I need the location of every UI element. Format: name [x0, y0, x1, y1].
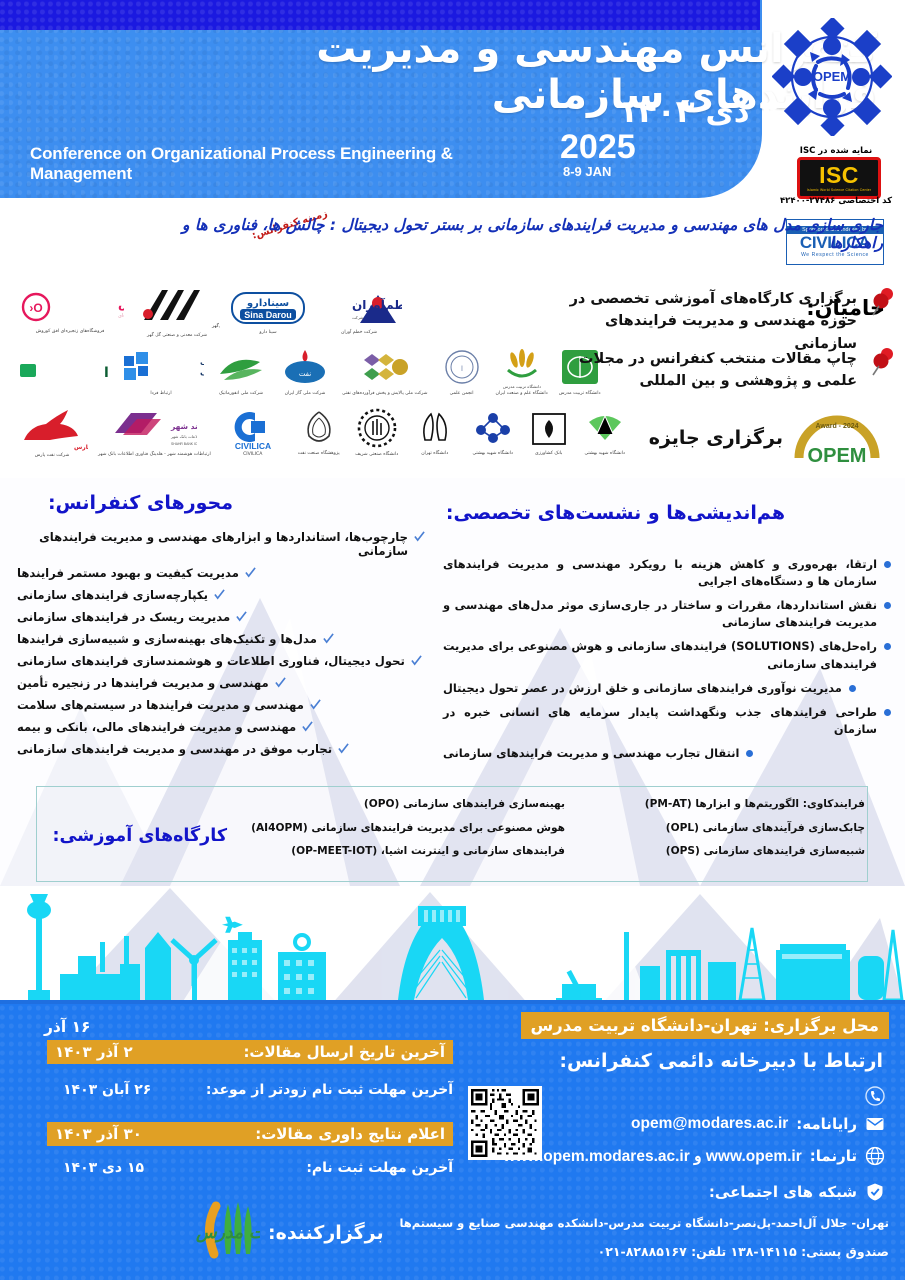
session-label: انتقال تجارب مهندسی و مدیریت فرایندهای س… [443, 745, 739, 762]
logo-anjoman: ا انجمن علمی [438, 346, 486, 398]
deadline-row-early-registration: آخرین مهلت ثبت نام زودتر از موعد: ۲۶ آبا… [63, 1082, 453, 1098]
feature-item-publications: چاپ مقالات منتخب کنفرانس در مجلات علمی و… [557, 348, 857, 393]
isc-code: کد اختصاصی ۲۷۴۸۶-۴۲۴۰۰ [776, 196, 896, 206]
sessions-list: ارتقا، بهره‌وری و کاهش هزینه با رویکرد م… [443, 556, 891, 769]
award-logo-text: OPEM [808, 445, 867, 464]
list-item: مدل‌ها و تکنیک‌های بهینه‌سازی و شبیه‌ساز… [17, 632, 425, 646]
deadline-date: ۲ آذر ۱۴۰۳ [55, 1043, 133, 1061]
email-label: رایانامه: [796, 1115, 857, 1133]
bullet-icon [884, 602, 891, 609]
axis-label: یکپارچه‌سازی فرایندهای سازمانی [17, 588, 208, 602]
svg-text:سینادارو: سینادارو [246, 298, 289, 309]
logo-caption: ارتباطات هوشمند شهر - هلدینگ فناوری اطلا… [98, 452, 211, 457]
contact-phone-row [865, 1086, 885, 1106]
contact-web-row[interactable]: تارنما: www.opem.modares.ac.ir و www.ope… [503, 1146, 885, 1166]
svg-text:ا: ا [461, 365, 463, 373]
organizer-logo-text: دانشگاه تربیت مدرس [195, 1222, 260, 1243]
workshop-item: شبیه‌سازی فرایندهای سازمانی (OPS) [575, 845, 865, 858]
logo-green-leaf: شرکت ملی انفورماتیک [214, 346, 268, 398]
deadline-label: آخرین مهلت ثبت نام: [306, 1160, 453, 1176]
globe-icon [865, 1146, 885, 1166]
logo-bank-keshavarzi: بانک کشاورزی [527, 406, 571, 458]
supporters-row-2: دانشگاه تربیت مدرس دانشگاه تربیت مدرس دا… [10, 342, 550, 402]
logo-shahid-beheshti: دانشگاه شهید بهشتی [581, 406, 629, 458]
svg-text:شرکت نفت پارس: شرکت نفت پارس [74, 444, 88, 451]
logo-caption: دانشگاه تهران [421, 451, 448, 456]
session-label: مدیریت نوآوری فرایندهای سازمانی و خلق ار… [443, 680, 842, 697]
civilica-bottom-text: We Respect the Science [801, 252, 869, 258]
workshops-heading: کارگاه‌های آموزشی: [52, 826, 227, 846]
list-item: تحول دیجیتال، فناوری اطلاعات و هوشمندساز… [17, 654, 425, 668]
list-item: ارتقا، بهره‌وری و کاهش هزینه با رویکرد م… [443, 556, 891, 590]
svg-text:شرکت معدنی و صنعتی گل‌گهر: شرکت معدنی و صنعتی گل‌گهر [211, 322, 220, 329]
logo-caption: شرکت خطم آوران [341, 330, 377, 335]
award-label: برگزاری جایزه [649, 427, 783, 449]
isc-badge-subtext: Islamic World Science Citation Center [807, 188, 871, 192]
deadline-label: آخرین مهلت ثبت نام زودتر از موعد: [206, 1082, 453, 1098]
axis-label: مدیریت ریسک در فرایندهای سازمانی [17, 610, 230, 624]
check-icon [245, 567, 256, 578]
social-label: شبکه های اجتماعی: [709, 1183, 857, 1201]
workshops-column-a: بهینه‌سازی فرایندهای سازمانی (OPO) هوش م… [235, 798, 565, 869]
workshop-item: فرایندکاوی: الگوریتم‌ها و ابزارها (PM-AT… [575, 798, 865, 811]
check-icon [302, 721, 313, 732]
logo-sina-darou: سینادارو Sina Darou سینا دارو [230, 286, 306, 338]
logo-caption: دانشگاه شهید بهشتی [473, 451, 513, 456]
deadline-row-review-results: اعلام نتایج داوری مقالات: ۳۰ آذر ۱۴۰۳ [47, 1122, 453, 1146]
axis-label: مدل‌ها و تکنیک‌های بهینه‌سازی و شبیه‌ساز… [17, 632, 317, 646]
organizer-label: برگزارکننده: [268, 1222, 384, 1244]
header-title-en: Conference on Organizational Process Eng… [30, 144, 550, 184]
svg-text:ارتباط‌فردا: ارتباط‌فردا [104, 365, 108, 381]
bullet-icon [746, 750, 753, 757]
check-icon [411, 655, 422, 666]
header-year: 2025 [560, 128, 636, 167]
bullet-icon [884, 643, 891, 650]
svg-text:SHAHR BANK ICT HOLDING: SHAHR BANK ICT HOLDING [171, 442, 197, 446]
header-date-en: 8-9 JAN [563, 164, 611, 179]
check-icon [310, 699, 321, 710]
logo-caption: شرکت ملی گاز ایران [285, 391, 326, 396]
theme-text: جاری سازی مدل های مهندسی و مدیریت فرایند… [143, 216, 883, 252]
check-icon [275, 677, 286, 688]
list-item: چارچوب‌ها، استانداردها و ابزارهای مهندسی… [17, 530, 425, 559]
list-item: انتقال تجارب مهندسی و مدیریت فرایندهای س… [443, 745, 891, 762]
logo-research-institute: پژوهشگاه صنعت نفت [295, 406, 343, 458]
supporters-logo-grid: خطم‌آوران شرکت شرکت خطم آوران سینادارو S… [10, 282, 550, 472]
logo-caption: دانشگاه صنعتی شریف [355, 452, 398, 457]
axis-label: مهندسی و مدیریت فرایندها در زنجیره تأمین [17, 676, 269, 690]
axis-label: چارچوب‌ها، استانداردها و ابزارهای مهندسی… [17, 530, 408, 559]
logo-golgohar: شرکت معدنی و صنعتی گل‌گهر شرکت معدنی و ص… [134, 286, 220, 338]
svg-text:هلدینگ فناوری اطلاعات بانک شهر: هلدینگ فناوری اطلاعات بانک شهر [170, 434, 197, 439]
workshop-item: بهینه‌سازی فرایندهای سازمانی (OPO) [235, 798, 565, 811]
axis-label: تجارب موفق در مهندسی و مدیریت فرایندهای … [17, 742, 332, 756]
list-item: مدیریت نوآوری فرایندهای سازمانی و خلق ار… [443, 680, 891, 697]
list-item: طراحی فرایندهای جذب ونگهداشت پایدار سرما… [443, 704, 891, 738]
supporters-row-3: دانشگاه شهید بهشتی بانک کشاورزی دانشگاه [10, 402, 550, 462]
email-value[interactable]: opem@modares.ac.ir [631, 1115, 788, 1133]
award-arc-text: Award - 2024 [815, 423, 858, 430]
deadline-row-registration: آخرین مهلت ثبت نام: ۱۵ دی ۱۴۰۳ [63, 1160, 453, 1176]
footer-postal-phone: صندوق پستی: ۱۴۱۱۵-۱۳۸ تلفن: ۸۲۸۸۵۱۶۷-۰۲۱ [598, 1244, 889, 1259]
workshop-item: فرایندهای سازمانی و اینترنت اشیا، (OP-ME… [235, 845, 565, 858]
svg-text:نفت: نفت [299, 370, 311, 378]
tarbiat-modares-logo-icon: دانشگاه تربیت مدرس [60, 1198, 260, 1260]
list-item: مدیریت کیفیت و بهبود مستمر فرایندها [17, 566, 425, 580]
logo-ofogh-koorosh: O‹ افق کوروش فروشگاه‌های زنجیره‌ای فروشگ… [16, 286, 124, 338]
list-item: یکپارچه‌سازی فرایندهای سازمانی [17, 588, 425, 602]
logo-caption: ارتباط فردا [150, 391, 171, 396]
deadline-label: آخرین تاریخ ارسال مقالات: [243, 1043, 445, 1061]
list-item: تجارب موفق در مهندسی و مدیریت فرایندهای … [17, 742, 425, 756]
contact-heading: ارتباط با دبیرخانه دائمی کنفرانس: [559, 1050, 883, 1072]
axis-label: مدیریت کیفیت و بهبود مستمر فرایندها [17, 566, 239, 580]
logo-caption: دانشگاه علم و صنعت ایران [496, 391, 548, 396]
session-label: طراحی فرایندهای جذب ونگهداشت پایدار سرما… [443, 704, 877, 738]
award-block: Award - 2024 OPEM برگزاری جایزه [633, 412, 883, 464]
svg-text:ارتباطات هوشمند شهر: ارتباطات هوشمند شهر [170, 422, 197, 431]
check-icon [338, 743, 349, 754]
logo-caption: دانشگاه شهید بهشتی [585, 451, 625, 456]
isc-badge-text: ISC [819, 164, 859, 187]
qr-code[interactable] [468, 1086, 542, 1160]
phone-icon [865, 1086, 885, 1106]
web-label: تارنما: [810, 1147, 857, 1165]
deadline-date: ۲۶ آبان ۱۴۰۳ [63, 1082, 151, 1098]
logo-civilica: CIVILICA CIVILICA [221, 406, 285, 458]
logo-ertebat-farda: ارتباط‌فردا [16, 346, 108, 398]
axis-label: مهندسی و مدیریت فرایندها در سیستم‌های سل… [17, 698, 304, 712]
deadline-date: ۱۵ دی ۱۴۰۳ [63, 1160, 144, 1176]
check-icon [414, 531, 425, 542]
sessions-heading: هم‌اندیشی‌ها و نشست‌های تخصصی: [446, 502, 785, 524]
bullet-icon [884, 561, 891, 568]
check-icon [323, 633, 334, 644]
workshops-column-b: فرایندکاوی: الگوریتم‌ها و ابزارها (PM-AT… [575, 798, 865, 869]
contact-email-row[interactable]: رایانامه: opem@modares.ac.ir [631, 1114, 885, 1134]
axes-list: چارچوب‌ها، استانداردها و ابزارهای مهندسی… [17, 530, 425, 764]
svg-text:دانشگاه تربیت مدرس: دانشگاه تربیت مدرس [503, 384, 541, 389]
isc-badge: ISC Islamic World Science Citation Cente… [797, 157, 881, 199]
list-item: مهندسی و مدیریت فرایندها در سیستم‌های سل… [17, 698, 425, 712]
deadline-date: ۳۰ آذر ۱۴۰۳ [55, 1125, 142, 1143]
session-label: راه‌حل‌های (SOLUTIONS) فرایندهای سازمانی… [443, 638, 877, 672]
list-item: مدیریت ریسک در فرایندهای سازمانی [17, 610, 425, 624]
deadline-label: اعلام نتایج داوری مقالات: [255, 1125, 445, 1143]
logo-caption: بانک کشاورزی [535, 451, 562, 456]
list-item: راه‌حل‌های (SOLUTIONS) فرایندهای سازمانی… [443, 638, 891, 672]
logo-khat-avaran: خطم‌آوران شرکت شرکت خطم آوران [316, 286, 402, 338]
logo-caption: انجمن علمی [450, 391, 474, 396]
deadline-note-top: ۱۶ آذر [44, 1018, 91, 1036]
workshop-item: چابک‌سازی فرآیندهای سازمانی (OPL) [575, 822, 865, 835]
logo-informatics: شرکت ملی انفورماتیک ارتباط فردا [118, 346, 204, 398]
shield-check-icon [865, 1182, 885, 1202]
opem-award-logo-icon: Award - 2024 OPEM [791, 412, 883, 464]
logo-shahid-beheshti-2: دانشگاه شهید بهشتی [469, 406, 517, 458]
isc-note: نمایه شده در ISC [784, 146, 888, 156]
check-icon [236, 611, 247, 622]
logo-caption: CIVILICA [243, 452, 262, 457]
opem-logo-text: OPEM [813, 69, 851, 84]
svg-text:شرکت: شرکت [352, 315, 364, 320]
list-item: نقش استانداردها، مقررات و ساختار در جاری… [443, 597, 891, 631]
svg-text:CIVILICA: CIVILICA [235, 441, 271, 451]
bullet-icon [849, 685, 856, 692]
venue-badge: محل برگزاری: تهران-دانشگاه تربیت مدرس [521, 1012, 889, 1039]
session-label: ارتقا، بهره‌وری و کاهش هزینه با رویکرد م… [443, 556, 877, 590]
svg-text:شرکت ملی: شرکت ملی [200, 357, 204, 366]
svg-text:انفورماتیک: انفورماتیک [200, 368, 204, 377]
logo-caption: فروشگاه‌های زنجیره‌ای افق کوروش [36, 329, 105, 334]
deadline-row-submission: آخرین تاریخ ارسال مقالات: ۲ آذر ۱۴۰۳ [47, 1040, 453, 1064]
list-item: مهندسی و مدیریت فرایندهای مالی، بانکی و … [17, 720, 425, 734]
svg-text:O‹: O‹ [29, 301, 42, 315]
svg-text:افق کوروش: افق کوروش [118, 297, 124, 312]
logo-university-wheat: دانشگاه تربیت مدرس دانشگاه علم و صنعت ای… [496, 346, 548, 398]
contact-social-row[interactable]: شبکه های اجتماعی: [709, 1182, 885, 1202]
logo-pars-oil: شرکت نفت پارس شرکت نفت پارس [16, 406, 88, 458]
pushpin-icon [871, 286, 897, 316]
logo-national-gas: نفت شرکت ملی گاز ایران [278, 346, 332, 398]
logo-sharif-university: دانشگاه صنعتی شریف [353, 406, 401, 458]
logo-caption: شرکت نفت پارس [35, 453, 70, 458]
logo-caption: سینا دارو [259, 330, 276, 335]
logo-caption: شرکت ملی پالایش و پخش فرآورده‌های نفتی [342, 391, 428, 396]
logo-palayesh: شرکت ملی پالایش و پخش فرآورده‌های نفتی [342, 346, 428, 398]
footer-address: تهران- جلال آل‌احمد-پل‌نصر-دانشگاه تربیت… [399, 1216, 889, 1230]
logo-tehran-university: دانشگاه تهران [411, 406, 459, 458]
logo-caption: شرکت ملی انفورماتیک [219, 391, 263, 396]
check-icon [214, 589, 225, 600]
logo-caption: شرکت معدنی و صنعتی گل گهر [147, 333, 207, 338]
workshop-item: هوش مصنوعی برای مدیریت فرایندهای سازمانی… [235, 822, 565, 835]
svg-text:خطم‌آوران: خطم‌آوران [352, 297, 402, 313]
bullet-icon [884, 709, 891, 716]
axes-heading: محورهای کنفرانس: [48, 492, 233, 514]
pushpin-icon [871, 346, 897, 376]
svg-text:Sina Darou: Sina Darou [244, 310, 292, 320]
poster-header: کنفرانس مهندسی و مدیریت فرایندهای سازمان… [0, 0, 905, 200]
web-value[interactable]: www.opem.modares.ac.ir و www.opem.ir [503, 1147, 801, 1166]
logo-caption: پژوهشگاه صنعت نفت [298, 451, 340, 456]
logo-smart-city-comm: ارتباطات هوشمند شهر هلدینگ فناوری اطلاعا… [98, 406, 211, 458]
session-label: نقش استانداردها، مقررات و ساختار در جاری… [443, 597, 877, 631]
axis-label: مهندسی و مدیریت فرایندهای مالی، بانکی و … [17, 720, 296, 734]
svg-text:فروشگاه‌های زنجیره‌ای: فروشگاه‌های زنجیره‌ای [118, 312, 124, 319]
axis-label: تحول دیجیتال، فناوری اطلاعات و هوشمندساز… [17, 654, 405, 668]
opem-logo-icon: OPEM [772, 18, 892, 136]
city-skyline [0, 878, 905, 1006]
mail-icon [865, 1114, 885, 1134]
supporters-row-1: خطم‌آوران شرکت شرکت خطم آوران سینادارو S… [10, 282, 550, 342]
feature-item-workshops: برگزاری کارگاه‌های آموزشی تخصصی در حوزه … [557, 288, 857, 355]
conference-poster: کنفرانس مهندسی و مدیریت فرایندهای سازمان… [0, 0, 905, 1280]
list-item: مهندسی و مدیریت فرایندها در زنجیره تأمین [17, 676, 425, 690]
